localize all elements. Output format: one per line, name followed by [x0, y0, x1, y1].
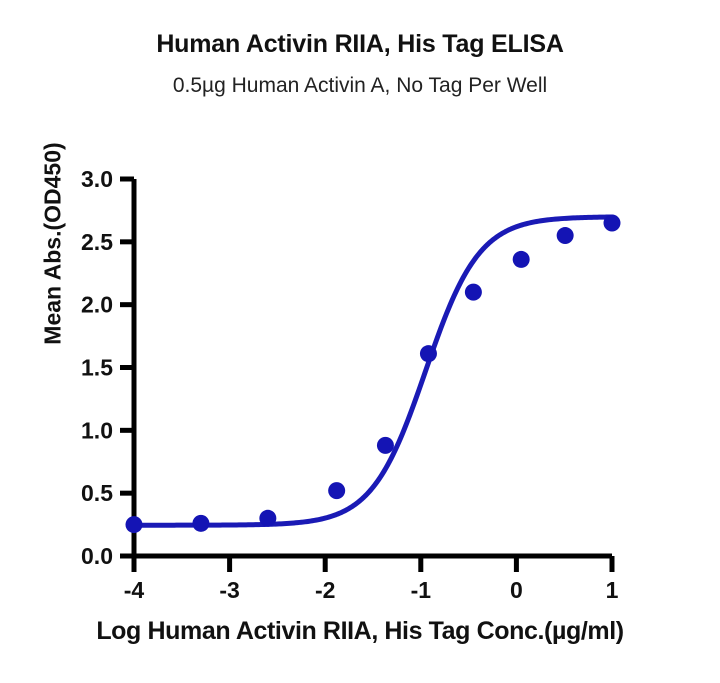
data-point: [420, 345, 437, 362]
x-tick-label: -1: [411, 577, 432, 603]
data-point: [513, 251, 530, 268]
data-point: [259, 510, 276, 527]
y-axis-tick-labels: 0.00.51.01.52.02.53.0: [81, 166, 113, 569]
data-point: [465, 284, 482, 301]
data-point: [126, 516, 143, 533]
x-tick-label: 0: [510, 577, 523, 603]
data-point: [377, 437, 394, 454]
chart-figure: Human Activin RIIA, His Tag ELISA 0.5µg …: [0, 0, 720, 683]
x-tick-label: 1: [606, 577, 619, 603]
x-tick-label: -3: [219, 577, 239, 603]
data-point: [604, 214, 621, 231]
y-tick-label: 1.0: [81, 417, 113, 443]
fit-curve: [134, 217, 612, 525]
x-tick-label: -4: [124, 577, 145, 603]
y-tick-label: 2.0: [81, 292, 113, 318]
y-tick-label: 0.0: [81, 543, 113, 569]
y-tick-label: 2.5: [81, 229, 113, 255]
data-point: [328, 482, 345, 499]
plot-area: 0.00.51.01.52.02.53.0 -4-3-2-101: [0, 0, 720, 683]
x-tick-label: -2: [315, 577, 335, 603]
y-tick-label: 1.5: [81, 355, 113, 381]
y-tick-label: 0.5: [81, 480, 113, 506]
data-point: [192, 515, 209, 532]
x-axis-tick-labels: -4-3-2-101: [124, 577, 619, 603]
y-tick-label: 3.0: [81, 166, 113, 192]
data-point: [557, 227, 574, 244]
